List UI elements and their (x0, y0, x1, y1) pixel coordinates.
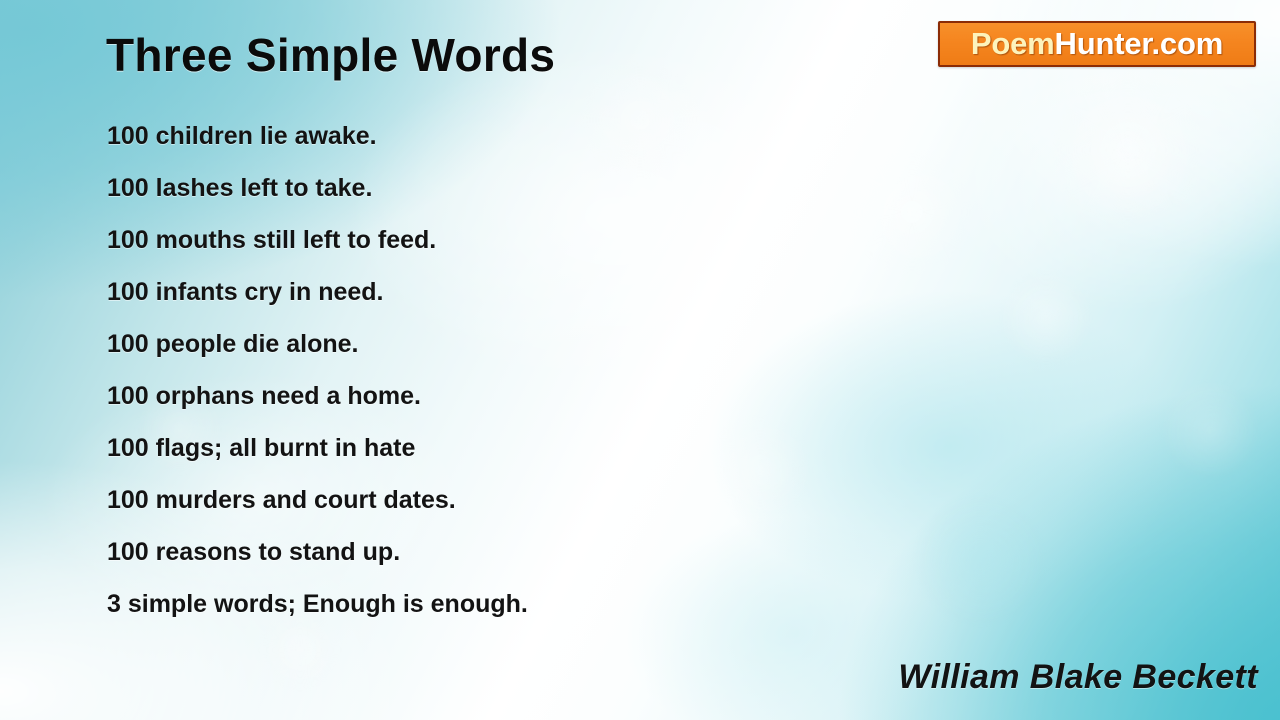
poem-line: 100 infants cry in need. (107, 266, 927, 318)
poemhunter-logo[interactable]: PoemHunter.com (938, 21, 1256, 67)
poem-line: 3 simple words; Enough is enough. (107, 578, 927, 630)
poemhunter-logo-text: PoemHunter.com (971, 27, 1223, 61)
poem-line: 100 mouths still left to feed. (107, 214, 927, 266)
poem-line: 100 lashes left to take. (107, 162, 927, 214)
poem-line: 100 people die alone. (107, 318, 927, 370)
poem-line: 100 flags; all burnt in hate (107, 422, 927, 474)
poem-author: William Blake Beckett (898, 656, 1258, 698)
poem-body: 100 children lie awake. 100 lashes left … (107, 110, 927, 630)
poem-line: 100 orphans need a home. (107, 370, 927, 422)
poem-title: Three Simple Words (106, 26, 555, 84)
poem-line: 100 reasons to stand up. (107, 526, 927, 578)
poem-line: 100 children lie awake. (107, 110, 927, 162)
card-content: Three Simple Words 100 children lie awak… (0, 0, 1280, 720)
poemhunter-logo-text-poem: Poem (971, 26, 1055, 61)
poem-line: 100 murders and court dates. (107, 474, 927, 526)
poem-image-card: Three Simple Words 100 children lie awak… (0, 0, 1280, 720)
poemhunter-logo-text-hunter: Hunter.com (1055, 26, 1224, 61)
